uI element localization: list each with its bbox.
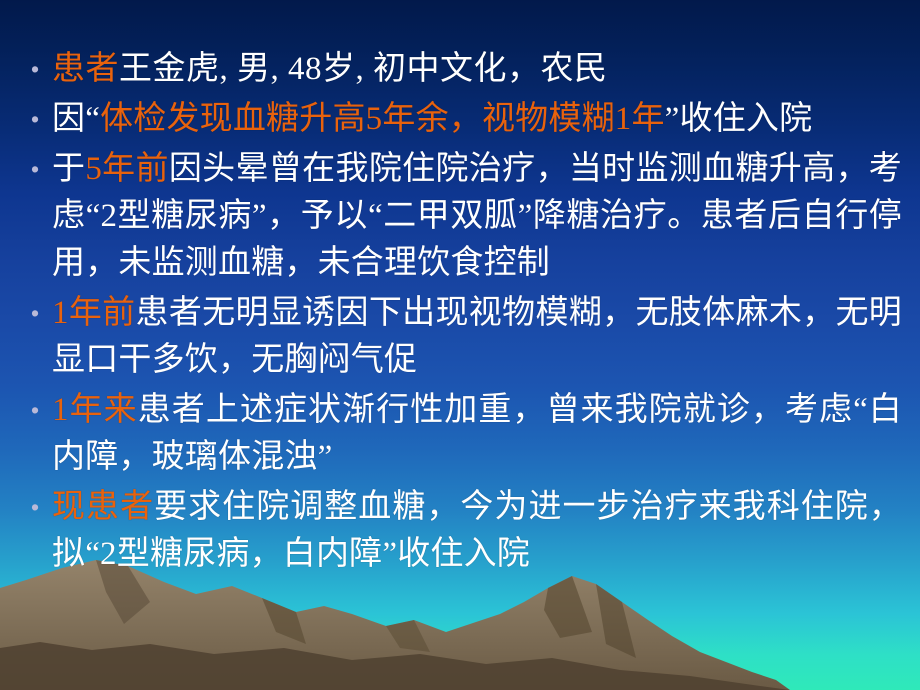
plain-segment: 患者上述症状渐行性加重，曾来我院就诊，考虑“白内障，玻璃体混浊”	[52, 392, 902, 475]
plain-segment: 因头晕曾在我院住院治疗，当时监测血糖升高，考虑“2型糖尿病”，予以“二甲双胍”降…	[52, 151, 902, 281]
highlight-segment: 1年来	[52, 392, 138, 428]
bullet-marker-icon: •	[18, 96, 52, 143]
bullet-marker-icon: •	[18, 46, 52, 93]
plain-segment: 于	[52, 151, 85, 187]
list-item: • 患者王金虎, 男, 48岁, 初中文化，农民	[18, 46, 902, 93]
slide-body: • 患者王金虎, 男, 48岁, 初中文化，农民 • 因“体检发现血糖升高5年余…	[0, 0, 920, 690]
highlight-segment: 体检发现血糖升高5年余，视物模糊1年	[100, 101, 665, 137]
presentation-slide: • 患者王金虎, 男, 48岁, 初中文化，农民 • 因“体检发现血糖升高5年余…	[0, 0, 920, 690]
bullet-progression-1-year: 1年来患者上述症状渐行性加重，曾来我院就诊，考虑“白内障，玻璃体混浊”	[52, 387, 902, 481]
highlight-segment: 患者	[52, 51, 119, 87]
bullet-marker-icon: •	[18, 484, 52, 531]
highlight-segment: 现患者	[52, 489, 154, 525]
bullet-history-5-years: 于5年前因头晕曾在我院住院治疗，当时监测血糖升高，考虑“2型糖尿病”，予以“二甲…	[52, 146, 902, 287]
highlight-segment: 5年前	[85, 151, 169, 187]
highlight-segment: 1年前	[52, 295, 136, 331]
bullet-chief-complaint: 因“体检发现血糖升高5年余，视物模糊1年”收住入院	[52, 96, 902, 143]
bullet-marker-icon: •	[18, 387, 52, 434]
bullet-marker-icon: •	[18, 290, 52, 337]
bullet-current-admission: 现患者要求住院调整血糖，今为进一步治疗来我科住院，拟“2型糖尿病，白内障”收住入…	[52, 484, 902, 578]
plain-segment: 患者无明显诱因下出现视物模糊，无肢体麻木，无明显口干多饮，无胸闷气促	[52, 295, 902, 378]
list-item: • 现患者要求住院调整血糖，今为进一步治疗来我科住院，拟“2型糖尿病，白内障”收…	[18, 484, 902, 578]
bullet-patient-identity: 患者王金虎, 男, 48岁, 初中文化，农民	[52, 46, 902, 93]
list-item: • 1年前患者无明显诱因下出现视物模糊，无肢体麻木，无明显口干多饮，无胸闷气促	[18, 290, 902, 384]
plain-segment: ”收住入院	[665, 101, 813, 137]
plain-segment: 因“	[52, 101, 100, 137]
list-item: • 于5年前因头晕曾在我院住院治疗，当时监测血糖升高，考虑“2型糖尿病”，予以“…	[18, 146, 902, 287]
plain-segment: 王金虎, 男, 48岁, 初中文化，农民	[119, 51, 608, 87]
list-item: • 因“体检发现血糖升高5年余，视物模糊1年”收住入院	[18, 96, 902, 143]
bullet-onset-1-year-ago: 1年前患者无明显诱因下出现视物模糊，无肢体麻木，无明显口干多饮，无胸闷气促	[52, 290, 902, 384]
plain-segment: 要求住院调整血糖，今为进一步治疗来我科住院，拟“2型糖尿病，白内障”收住入院	[52, 489, 902, 572]
list-item: • 1年来患者上述症状渐行性加重，曾来我院就诊，考虑“白内障，玻璃体混浊”	[18, 387, 902, 481]
bullet-marker-icon: •	[18, 146, 52, 193]
